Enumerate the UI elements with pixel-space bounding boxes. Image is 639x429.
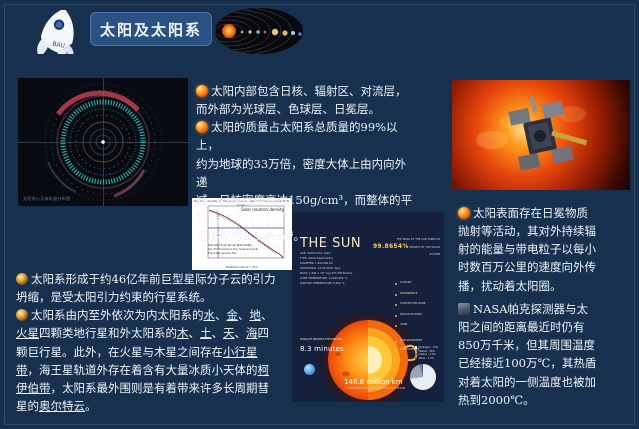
planet-link-jupiter[interactable]: 木	[177, 326, 189, 340]
planet-bullet-icon	[16, 273, 28, 285]
text-line: NASA帕克探测器与太	[473, 302, 588, 316]
sun-bullet-icon	[196, 121, 208, 133]
earth-icon	[304, 364, 315, 375]
thesun-mass-note-bottom: WEIGHT OF THE SOLAR SYSTEM	[410, 246, 440, 255]
text-line: 太阳系形成于约46亿年前巨型星际分子云	[31, 272, 241, 286]
thesun-spec: SURFACE TEMPERATURE: 5,500 °C	[300, 282, 378, 287]
poster-canvas: BAU 太阳及太阳系	[0, 0, 639, 429]
thesun-distance-block: 148.8 million km THE AVERAGE DISTANCE FR…	[344, 378, 414, 390]
thesun-layer-label: CORE	[395, 324, 441, 327]
thesun-spec-list: AGE: 4.603 billion Years TYPE: Yellow Dw…	[300, 252, 378, 286]
thesun-distance-value: 148.8 million km	[344, 378, 403, 386]
thesun-light-note-text: SUNLIGHT REACHES THE EARTH IN	[300, 338, 342, 341]
paragraph: 太阳系形成于约46亿年前巨型星际分子云的引力坍缩，是受太阳引力约束的行星系统。	[16, 270, 278, 306]
paragraph: 太阳的质量占太阳系总质量的99%以上，	[196, 118, 414, 154]
text-line: 而外部为光球层、色球层、日冕层。	[196, 100, 414, 118]
text-line: 抛射等活动，其对外持续辐	[458, 222, 634, 240]
paragraph: NASA帕克探测器与太	[458, 300, 634, 318]
text-line: 播，扰动着太阳圈。	[458, 277, 634, 295]
text-line: 热到2000℃。	[458, 391, 634, 409]
text-line: 对着太阳的一侧温度也被加	[458, 373, 634, 391]
planet-bullet-icon	[16, 309, 28, 321]
composition-pie-chart	[410, 364, 436, 390]
text-line: 射的能量与带电粒子以每小	[458, 240, 634, 258]
plot-legend-item: Expected neutron flux	[208, 252, 258, 256]
thesun-light-minutes: 8.3 minutes	[300, 344, 354, 355]
thesun-layer-label: CORONA	[395, 282, 441, 285]
text-line: 太阳系由内至外依次为内太阳系的	[31, 308, 204, 322]
text-line: 太阳的质量占太阳系总质量的99%以上，	[196, 120, 398, 152]
planet-link-venus[interactable]: 金	[227, 308, 239, 322]
spacecraft-graphic	[506, 87, 590, 170]
solar-system-badge	[215, 8, 303, 54]
text-line: 太阳内部包含日核、辐射区、对流层，	[211, 84, 407, 98]
thesun-surface-label: CHROMOSPHERE	[395, 340, 441, 343]
parker-solar-probe-photo	[452, 80, 630, 190]
text-block-solar-system-formation: 太阳系形成于约46亿年前巨型星际分子云的引力坍缩，是受太阳引力约束的行星系统。 …	[16, 270, 278, 415]
thesun-layer-label: PROMINENCE	[395, 293, 441, 296]
planet-link-neptune[interactable]: 海	[246, 326, 258, 340]
text-line: 850万千米，但其周围温度	[458, 336, 634, 354]
poster-header: BAU 太阳及太阳系	[0, 0, 639, 62]
text-line: 减，日核密度高达150g/cm³，而整体的平均	[196, 191, 414, 227]
text-line: 太阳表面存在日冕物质	[473, 206, 588, 220]
text-line: 时数百万公里的速度向外传	[458, 258, 634, 276]
text-block-sun-structure: 太阳内部包含日核、辐射区、对流层， 而外部为光球层、色球层、日冕层。 太阳的质量…	[196, 82, 414, 245]
planet-link-mercury[interactable]: 水	[204, 308, 216, 322]
page-title: 太阳及太阳系	[100, 19, 202, 40]
text-block-solar-activity: 太阳表面存在日冕物质 抛射等活动，其对外持续辐 射的能量与带电粒子以每小 时数百…	[458, 204, 634, 295]
planet-link-mars[interactable]: 火星	[16, 326, 39, 340]
thesun-layer-labels: CORONA PROMINENCE CONVECTION ZONE RADIAT…	[395, 282, 441, 335]
composition-item: Other - 1.7%	[415, 357, 438, 360]
orbital-map-caption: 太阳系小天体轨道分布图	[23, 196, 70, 202]
thesun-layer-label: CONVECTION ZONE	[395, 303, 441, 306]
thesun-light-travel-note: SUNLIGHT REACHES THE EARTH IN 8.3 minute…	[300, 338, 354, 354]
orbital-rings-graphic	[18, 78, 188, 206]
plot-x-axis-label: Relative radius r / R⊙	[192, 265, 292, 269]
rocket-icon: BAU	[22, 10, 84, 54]
text-block-parker-probe: NASA帕克探测器与太 阳之间的距离最近时仍有 850万千米，但其周围温度 已经…	[458, 300, 634, 409]
plot-legend: Standard Solar Model (B16-GS98) Sol: Ear…	[208, 244, 258, 256]
text-line: 已经接近100万℃，其热盾	[458, 354, 634, 372]
paragraph: 太阳表面存在日冕物质	[458, 204, 634, 222]
text-line: 约为地球的33万倍，密度大体上由内向外递	[196, 155, 414, 191]
sun-bullet-icon	[458, 207, 470, 219]
probe-bullet-icon	[458, 303, 470, 315]
thesun-distance-note: THE AVERAGE DISTANCE FROM EARTH TO THE S…	[344, 387, 414, 390]
paragraph: 太阳系由内至外依次为内太阳系的水、金、地、火星四颗类地行星和外太阳系的木、土、天…	[16, 306, 278, 415]
thesun-layer-label: RADIATIVE ZONE	[395, 314, 441, 317]
orbital-map-panel: 太阳系小天体轨道分布图	[18, 78, 188, 206]
paragraph: 太阳内部包含日核、辐射区、对流层，	[196, 82, 414, 100]
sun-bullet-icon	[196, 85, 208, 97]
text-line: 阳之间的距离最近时仍有	[458, 318, 634, 336]
thesun-composition-legend: Hydrogen - 73% Helium - 25% Carbon - 0.3…	[415, 346, 438, 360]
text-line: 密度仅约1.5g/cm³。	[196, 227, 414, 245]
planet-link-saturn[interactable]: 土	[200, 326, 212, 340]
poster-title-box: 太阳及太阳系	[90, 12, 212, 46]
planet-link-uranus[interactable]: 天	[223, 326, 235, 340]
link-oort-cloud[interactable]: 奥尔特云	[39, 399, 85, 413]
planet-link-earth[interactable]: 地	[250, 308, 262, 322]
